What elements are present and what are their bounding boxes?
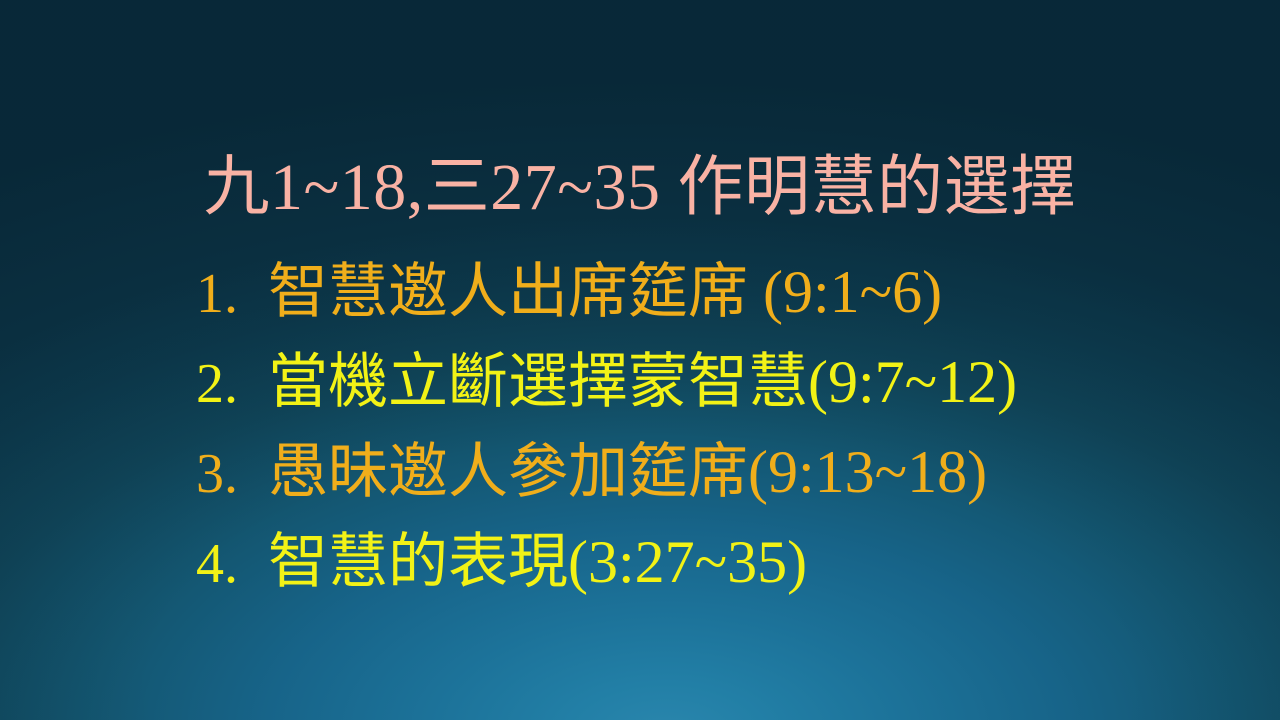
bullet-text: 愚昧邀人參加筵席(9:13~18)	[268, 442, 987, 502]
bullet-item-2: 2. 當機立斷選擇蒙智慧(9:7~12)	[0, 352, 1280, 442]
bullet-item-4: 4. 智慧的表現(3:27~35)	[0, 532, 1280, 622]
bullet-list: 1. 智慧邀人出席筵席 (9:1~6) 2. 當機立斷選擇蒙智慧(9:7~12)…	[0, 262, 1280, 622]
bullet-marker: 4.	[196, 536, 268, 592]
bullet-text: 智慧的表現(3:27~35)	[268, 532, 807, 592]
bullet-marker: 3.	[196, 446, 268, 502]
bullet-item-3: 3. 愚昧邀人參加筵席(9:13~18)	[0, 442, 1280, 532]
bullet-item-1: 1. 智慧邀人出席筵席 (9:1~6)	[0, 262, 1280, 352]
bullet-marker: 1.	[196, 266, 268, 322]
bullet-text: 當機立斷選擇蒙智慧(9:7~12)	[268, 352, 1017, 412]
slide-title: 九1~18,三27~35 作明慧的選擇	[0, 155, 1280, 221]
presentation-slide: 九1~18,三27~35 作明慧的選擇 1. 智慧邀人出席筵席 (9:1~6) …	[0, 0, 1280, 720]
bullet-marker: 2.	[196, 356, 268, 412]
slide-content: 九1~18,三27~35 作明慧的選擇 1. 智慧邀人出席筵席 (9:1~6) …	[0, 0, 1280, 720]
bullet-text: 智慧邀人出席筵席 (9:1~6)	[268, 262, 942, 322]
